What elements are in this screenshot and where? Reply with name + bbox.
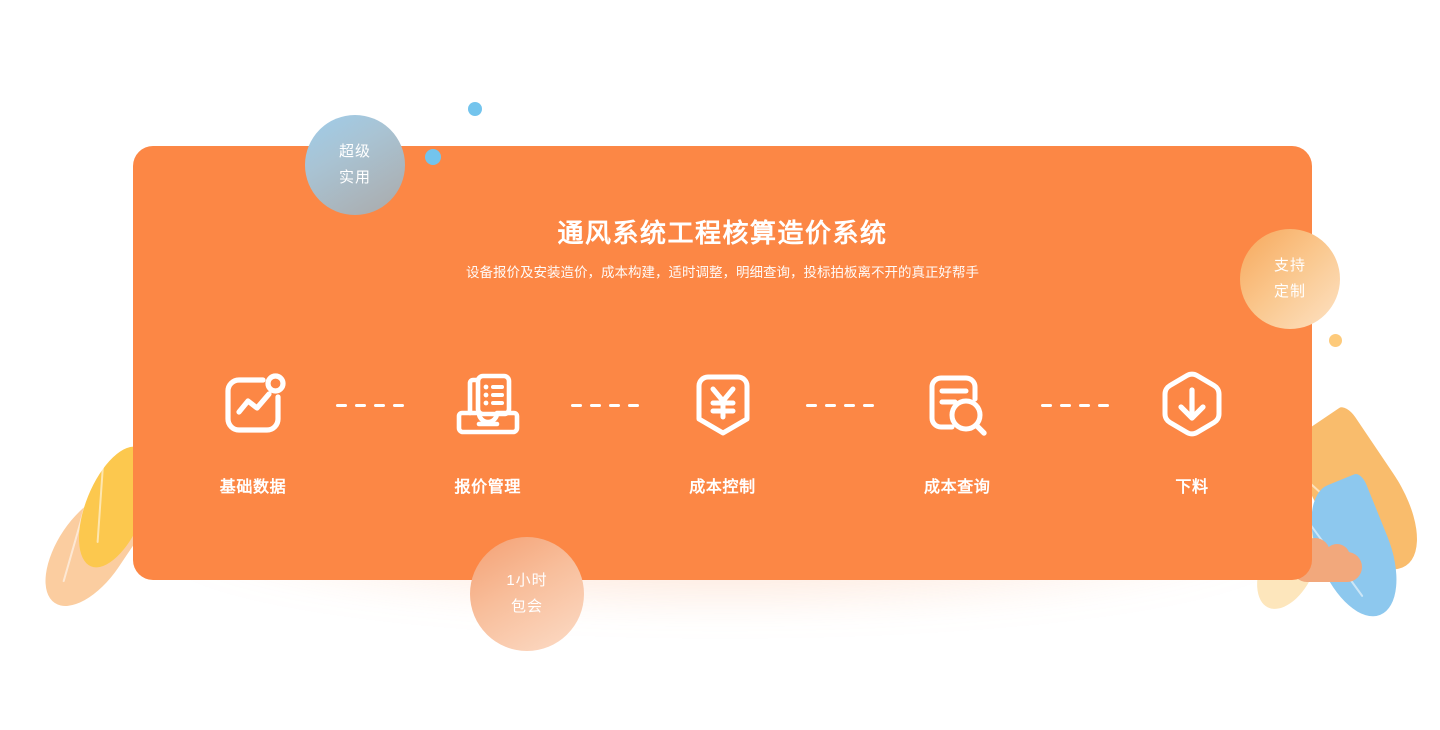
feature-label: 成本控制: [689, 473, 755, 497]
hero-card: 通风系统工程核算造价系统 设备报价及安装造价，成本构建，适时调整，明细查询，投标…: [133, 146, 1312, 580]
feature-label: 下料: [1175, 473, 1208, 497]
page-title: 通风系统工程核算造价系统: [133, 213, 1312, 250]
feature-item-quotation-management[interactable]: 报价管理: [428, 366, 548, 497]
feature-item-cutting[interactable]: 下料: [1132, 366, 1252, 497]
badge-line-1: 超级: [339, 139, 371, 165]
feature-item-cost-control[interactable]: 成本控制: [663, 366, 783, 497]
feature-label: 成本查询: [924, 473, 990, 497]
page-root: 通风系统工程核算造价系统 设备报价及安装造价，成本构建，适时调整，明细查询，投标…: [0, 0, 1440, 730]
yuan-shield-icon: [684, 366, 762, 444]
badge-supports-custom[interactable]: 支持 定制: [1240, 229, 1340, 329]
badge-line-2: 实用: [339, 165, 371, 191]
connector-dashes: [1041, 404, 1109, 407]
feature-list: 基础数据: [193, 366, 1252, 497]
feature-label: 基础数据: [220, 473, 286, 497]
document-search-icon: [918, 366, 996, 444]
blue-dot-upper: [468, 102, 482, 116]
badge-line-1: 1小时: [506, 568, 547, 594]
badge-one-hour-learn[interactable]: 1小时 包会: [470, 537, 584, 651]
feature-item-basic-data[interactable]: 基础数据: [193, 366, 313, 497]
badge-super-practical[interactable]: 超级 实用: [305, 115, 405, 215]
chart-data-icon: [214, 366, 292, 444]
badge-line-1: 支持: [1274, 253, 1306, 279]
hexagon-download-icon: [1153, 366, 1231, 444]
badge-line-2: 定制: [1274, 279, 1306, 305]
inbox-documents-icon: [449, 366, 527, 444]
feature-item-cost-query[interactable]: 成本查询: [897, 366, 1017, 497]
feature-label: 报价管理: [455, 473, 521, 497]
badge-line-2: 包会: [511, 594, 543, 620]
connector-dashes: [806, 404, 874, 407]
page-subtitle: 设备报价及安装造价，成本构建，适时调整，明细查询，投标拍板离不开的真正好帮手: [463, 261, 983, 285]
connector-dashes: [571, 404, 639, 407]
amber-dot: [1329, 334, 1342, 347]
leaf-blue-decoration: [1294, 472, 1413, 629]
blue-dot-lower: [425, 149, 441, 165]
cloud-bump-right: [1324, 544, 1350, 570]
connector-dashes: [336, 404, 404, 407]
